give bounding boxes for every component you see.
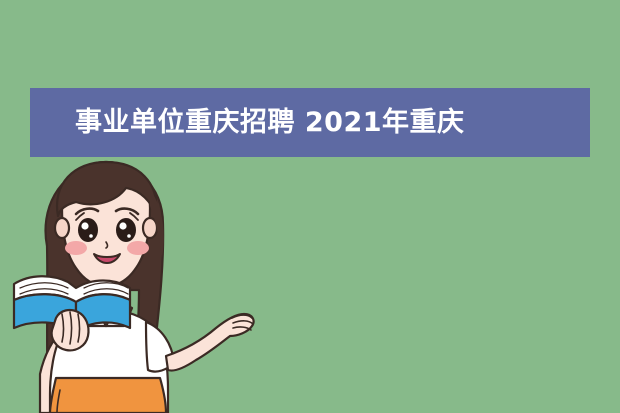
screenshot-canvas: 事业单位重庆招聘 2021年重庆	[0, 0, 620, 413]
right-blush	[127, 241, 149, 255]
right-eye-highlight	[119, 222, 126, 229]
right-ear	[143, 218, 157, 238]
right-arm	[166, 314, 254, 371]
right-eye-glint	[127, 234, 131, 238]
left-blush	[65, 241, 87, 255]
left-eye	[78, 218, 98, 242]
page-title: 事业单位重庆招聘 2021年重庆	[30, 109, 465, 136]
left-eye-highlight	[81, 222, 88, 229]
title-banner: 事业单位重庆招聘 2021年重庆	[30, 88, 590, 157]
left-eye-glint	[89, 234, 93, 238]
left-ear	[55, 218, 69, 238]
cartoon-student-girl-with-book-illustration	[0, 150, 262, 413]
skirt	[50, 378, 166, 413]
right-eye	[116, 218, 136, 242]
